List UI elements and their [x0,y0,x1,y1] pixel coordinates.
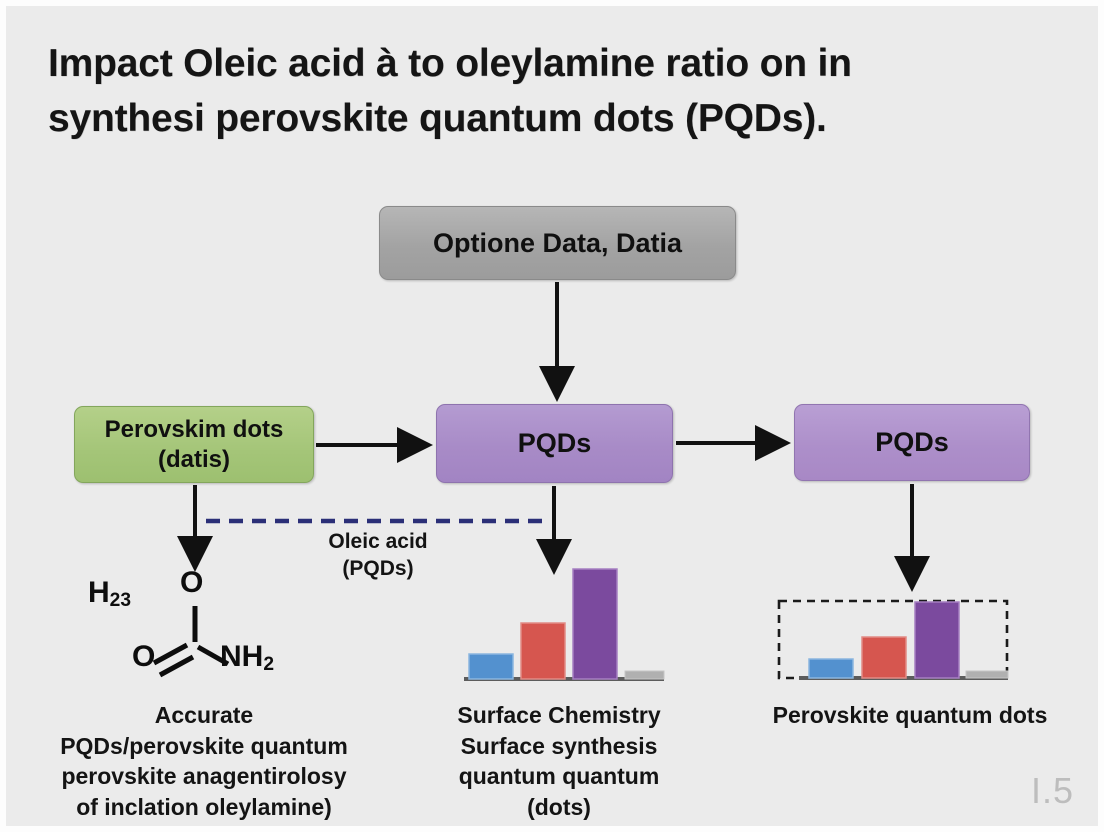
chem-h-subscript: 23 [110,590,131,611]
right-chart-dashed-frame [779,601,1007,678]
chem-label-o-top: O [180,568,203,598]
node-perovskim-dots[interactable]: Perovskim dots (datis) [74,406,314,483]
right-bar-4 [966,671,1008,678]
chem-label-h: H23 [88,578,131,610]
right-bar-3 [915,602,959,678]
title-line-1: Impact Oleic acid à to oleylamine ratio … [48,42,852,85]
middle-bar-4 [625,671,664,679]
caption-left: AccuratePQDs/perovskite quantumperovskit… [18,700,390,822]
node-pqds-middle[interactable]: PQDs [436,404,673,483]
title-line-2: synthesi perovskite quantum dots (PQDs). [48,97,827,140]
chem-label-nh2: NH2 [220,642,274,674]
middle-bar-chart [464,569,664,679]
page-title: Impact Oleic acid à to oleylamine ratio … [48,36,1058,147]
node-green-line-2: (datis) [158,446,230,473]
chem-structure-bonds [154,606,228,675]
right-bar-1 [809,659,853,678]
chem-nh2-text: NH [220,640,263,673]
oleic-acid-line-2: (PQDs) [342,557,413,580]
caption-right: Perovskite quantum dots [724,700,1096,731]
slide-canvas: Impact Oleic acid à to oleylamine ratio … [0,0,1104,832]
chem-h-text: H [88,576,110,609]
node-green-line-1: Perovskim dots [105,416,284,443]
right-bar-2 [862,637,906,678]
middle-bar-3 [573,569,617,679]
oleic-acid-annotation: Oleic acid (PQDs) [268,529,488,583]
node-pqds-right[interactable]: PQDs [794,404,1030,481]
chem-nh2-subscript: 2 [263,654,274,675]
middle-bar-2 [521,623,565,679]
node-optione-data[interactable]: Optione Data, Datia [379,206,736,280]
right-bar-chart [779,601,1008,678]
middle-bar-1 [469,654,513,679]
oleic-acid-line-1: Oleic acid [328,530,427,553]
caption-middle: Surface ChemistrySurface synthesisquantu… [414,700,704,822]
slide-number-watermark: I.5 [1031,770,1074,812]
chem-label-o-left: O [132,642,155,672]
